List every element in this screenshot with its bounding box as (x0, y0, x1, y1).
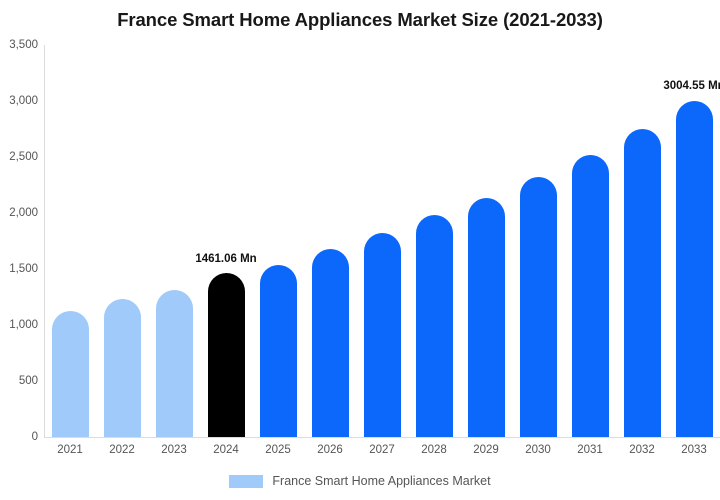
x-axis-tick-label-2028: 2028 (421, 444, 447, 456)
x-axis-tick-label-2022: 2022 (109, 444, 135, 456)
x-axis-tick-label-2031: 2031 (577, 444, 603, 456)
bar-rect-2031[interactable] (572, 155, 609, 437)
chart-title: France Smart Home Appliances Market Size… (0, 9, 720, 31)
x-axis-tick-label-2025: 2025 (265, 444, 291, 456)
y-axis-tick-label: 1,000 (0, 319, 38, 331)
chart-legend: France Smart Home Appliances Market (0, 474, 720, 488)
bar-2032[interactable] (624, 45, 661, 437)
x-axis-tick-label-2021: 2021 (57, 444, 83, 456)
bar-rect-2029[interactable] (468, 198, 505, 437)
bar-2026[interactable] (312, 45, 349, 437)
bar-2024[interactable] (208, 45, 245, 437)
bar-value-label-2033: 3004.55 Mn (663, 80, 720, 92)
bar-rect-2030[interactable] (520, 177, 557, 437)
x-axis-tick-label-2030: 2030 (525, 444, 551, 456)
bar-2030[interactable] (520, 45, 557, 437)
bar-2033[interactable] (676, 45, 713, 437)
bar-2022[interactable] (104, 45, 141, 437)
x-axis-tick-label-2023: 2023 (161, 444, 187, 456)
bar-rect-2032[interactable] (624, 129, 661, 437)
x-axis-tick-label-2032: 2032 (629, 444, 655, 456)
x-axis-line (44, 437, 720, 438)
y-axis-tick-label: 3,000 (0, 95, 38, 107)
y-axis-tick-label: 2,500 (0, 151, 38, 163)
x-axis-tick-label-2026: 2026 (317, 444, 343, 456)
legend-swatch-france-smart-home-appliances-market (229, 475, 263, 488)
y-axis-tick-label: 2,000 (0, 207, 38, 219)
bar-rect-2033[interactable] (676, 101, 713, 438)
x-axis-tick-label-2024: 2024 (213, 444, 239, 456)
bar-rect-2024[interactable] (208, 273, 245, 437)
bar-rect-2027[interactable] (364, 233, 401, 437)
x-axis-tick-label-2029: 2029 (473, 444, 499, 456)
bar-2028[interactable] (416, 45, 453, 437)
x-axis-tick-label-2027: 2027 (369, 444, 395, 456)
y-axis-labels: 3,5003,0002,5002,0001,5001,0005000 (0, 0, 38, 500)
bar-rect-2025[interactable] (260, 265, 297, 437)
bar-2023[interactable] (156, 45, 193, 437)
legend-label-france-smart-home-appliances-market: France Smart Home Appliances Market (272, 474, 490, 488)
y-axis-tick-label: 0 (0, 431, 38, 443)
bar-rect-2021[interactable] (52, 311, 89, 437)
y-axis-tick-label: 500 (0, 375, 38, 387)
bar-2021[interactable] (52, 45, 89, 437)
bar-2031[interactable] (572, 45, 609, 437)
bar-rect-2022[interactable] (104, 299, 141, 437)
bar-2027[interactable] (364, 45, 401, 437)
bar-2025[interactable] (260, 45, 297, 437)
bar-rect-2028[interactable] (416, 215, 453, 437)
bar-rect-2026[interactable] (312, 249, 349, 437)
x-axis-tick-label-2033: 2033 (681, 444, 707, 456)
bar-2029[interactable] (468, 45, 505, 437)
y-axis-tick-label: 3,500 (0, 39, 38, 51)
bar-value-label-2024: 1461.06 Mn (195, 253, 256, 265)
y-axis-tick-label: 1,500 (0, 263, 38, 275)
chart-container: France Smart Home Appliances Market Size… (0, 0, 720, 500)
plot-area (44, 45, 720, 437)
bar-rect-2023[interactable] (156, 290, 193, 437)
